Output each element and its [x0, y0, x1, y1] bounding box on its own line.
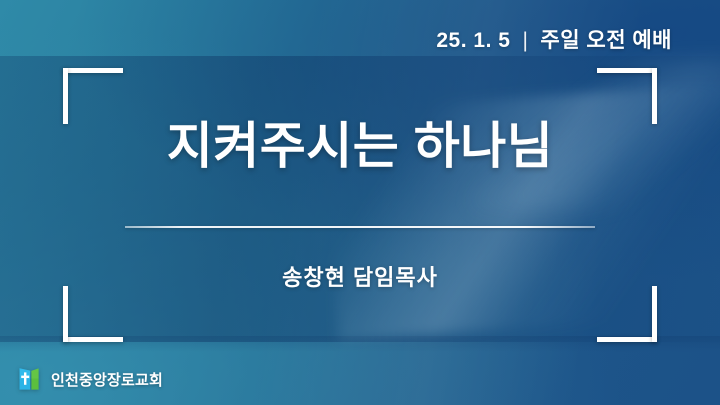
church-logo: 인천중앙장로교회 — [16, 366, 163, 392]
speaker-name: 송창현 담임목사 — [282, 260, 438, 292]
service-date: 25. 1. 5 — [436, 29, 510, 53]
sermon-title: 지켜주시는 하나님 — [167, 119, 553, 174]
service-name: 주일 오전 예배 — [540, 24, 672, 54]
church-name-label: 인천중앙장로교회 — [51, 369, 163, 390]
title-divider — [125, 226, 595, 228]
header-separator: | — [520, 29, 530, 53]
church-door-cross-icon — [16, 366, 42, 392]
header-service-line: 25. 1. 5 | 주일 오전 예배 — [436, 24, 672, 54]
title-block: 지켜주시는 하나님 송창현 담임목사 — [63, 68, 657, 342]
sermon-title-slide: 25. 1. 5 | 주일 오전 예배 지켜주시는 하나님 송창현 담임목사 — [0, 0, 720, 405]
